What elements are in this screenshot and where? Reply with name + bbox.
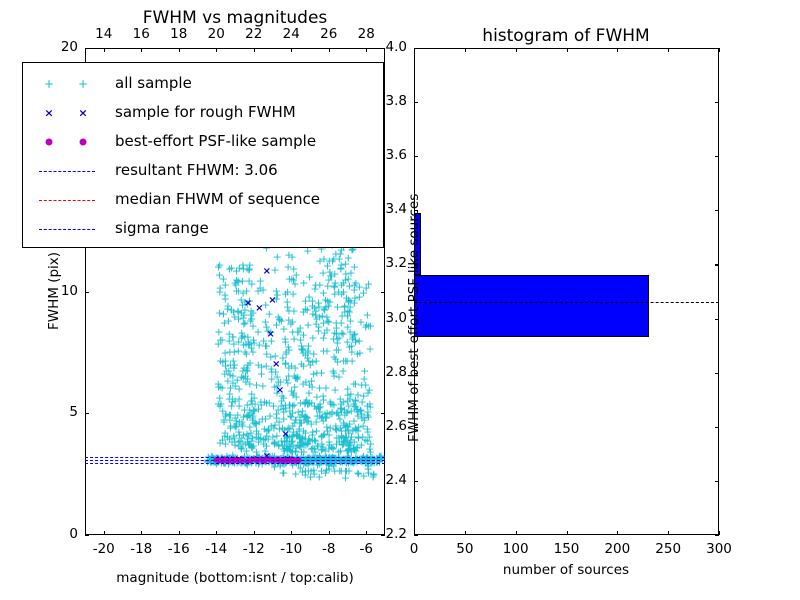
scatter-point-all: +: [319, 395, 328, 406]
reference-line: [85, 460, 385, 461]
scatter-point-all: +: [351, 401, 360, 412]
legend-item: ++all sample: [23, 71, 383, 97]
x-tick-label-bottom: -6: [360, 541, 373, 557]
legend-item: best-effort PSF-like sample: [23, 129, 383, 155]
scatter-point-all: +: [317, 368, 326, 379]
scatter-point-all: +: [258, 381, 267, 392]
axis-tick: [617, 48, 618, 52]
x-tick-label: 0: [410, 541, 419, 557]
axis-tick: [85, 535, 89, 536]
axis-tick: [668, 48, 669, 52]
axis-tick: [715, 373, 719, 374]
axis-tick: [216, 48, 217, 52]
x-tick-label-top: 20: [208, 26, 225, 42]
x-tick-label-top: 14: [95, 26, 112, 42]
axis-tick: [366, 531, 367, 535]
legend-line-marker: [39, 171, 95, 172]
scatter-point-all: +: [333, 302, 342, 313]
axis-tick: [414, 156, 418, 157]
scatter-point-rough-fwhm: ×: [255, 304, 263, 314]
left-panel-title: FWHM vs magnitudes: [143, 8, 328, 28]
scatter-point-all: +: [216, 356, 225, 367]
scatter-point-all: +: [343, 306, 352, 317]
axis-tick: [329, 531, 330, 535]
legend-item: ××sample for rough FWHM: [23, 100, 383, 126]
axis-tick: [414, 481, 418, 482]
axis-tick: [715, 156, 719, 157]
axis-tick: [179, 48, 180, 52]
scatter-point-all: +: [343, 337, 352, 348]
right-panel-title: histogram of FWHM: [482, 26, 649, 46]
scatter-point-rough-fwhm: ×: [244, 299, 252, 309]
scatter-point-all: +: [366, 447, 375, 458]
y-tick-label: 2.8: [386, 364, 407, 380]
legend-label: all sample: [115, 74, 192, 92]
legend-label: resultant FHWM: 3.06: [115, 161, 278, 179]
legend-label: sigma range: [115, 219, 209, 237]
reference-line: [85, 463, 385, 464]
scatter-point-all: +: [324, 316, 333, 327]
y-tick-label: 3.0: [386, 310, 407, 326]
axis-tick: [216, 531, 217, 535]
scatter-point-all: +: [363, 423, 372, 434]
axis-tick: [516, 531, 517, 535]
scatter-point-all: +: [219, 274, 228, 285]
scatter-point-all: +: [292, 372, 301, 383]
scatter-point-all: +: [341, 466, 350, 477]
axis-tick: [516, 48, 517, 52]
scatter-point-all: +: [229, 331, 238, 342]
y-tick-label: 3.8: [386, 93, 407, 109]
scatter-point-all: +: [301, 376, 310, 387]
axis-tick: [719, 48, 720, 52]
y-tick-label-left: 20: [61, 39, 78, 55]
x-tick-label-bottom: -14: [205, 541, 227, 557]
scatter-point-all: +: [355, 348, 364, 359]
scatter-point-all: +: [332, 334, 341, 345]
scatter-point-rough-fwhm: ×: [281, 430, 289, 440]
y-tick-label: 3.2: [386, 255, 407, 271]
x-tick-label: 100: [503, 541, 529, 557]
axis-tick: [104, 48, 105, 52]
scatter-point-all: +: [247, 388, 256, 399]
scatter-point-all: +: [238, 439, 247, 450]
y-tick-label-left: 10: [61, 283, 78, 299]
figure-canvas: FWHM vs magnitudes +++++++++++++++++++++…: [0, 0, 800, 600]
scatter-point-all: +: [324, 300, 333, 311]
legend-label: best-effort PSF-like sample: [115, 132, 316, 150]
axis-tick: [381, 292, 385, 293]
reference-line: [85, 457, 385, 458]
legend-item: resultant FHWM: 3.06: [23, 158, 383, 184]
axis-tick: [366, 48, 367, 52]
x-tick-label-top: 26: [320, 26, 337, 42]
x-tick-label-top: 28: [358, 26, 375, 42]
x-tick-label: 50: [456, 541, 473, 557]
axis-tick: [414, 102, 418, 103]
legend-x-marker: ×: [78, 108, 87, 119]
legend-x-marker: ×: [44, 108, 53, 119]
axis-tick: [715, 264, 719, 265]
scatter-point-all: +: [337, 259, 346, 270]
x-tick-label-bottom: -16: [168, 541, 190, 557]
axis-tick: [381, 413, 385, 414]
axis-tick: [179, 531, 180, 535]
legend-box: ++all sample××sample for rough FWHMbest-…: [22, 62, 384, 248]
axis-tick: [719, 531, 720, 535]
scatter-point-all: +: [334, 345, 343, 356]
scatter-point-all: +: [363, 401, 372, 412]
scatter-point-all: +: [344, 445, 353, 456]
scatter-point-all: +: [364, 412, 373, 423]
scatter-point-all: +: [231, 395, 240, 406]
axis-tick: [85, 48, 89, 49]
scatter-point-all: +: [218, 405, 227, 416]
histogram-reference-line: [414, 302, 719, 303]
scatter-point-all: +: [242, 285, 251, 296]
axis-tick: [715, 319, 719, 320]
axis-tick: [254, 531, 255, 535]
scatter-point-all: +: [330, 371, 339, 382]
scatter-point-all: +: [354, 469, 363, 480]
axis-tick: [617, 531, 618, 535]
scatter-point-rough-fwhm: ×: [272, 360, 280, 370]
x-tick-label-top: 24: [283, 26, 300, 42]
scatter-point-rough-fwhm: ×: [268, 296, 276, 306]
right-y-axis-label: FWHM of best-effort PSF-like sources: [406, 194, 422, 442]
axis-tick: [381, 48, 385, 49]
histogram-bar: [414, 275, 649, 337]
axis-tick: [414, 48, 418, 49]
scatter-point-all: +: [262, 430, 271, 441]
legend-dot-marker: [80, 139, 87, 146]
x-tick-label: 200: [604, 541, 630, 557]
scatter-point-all: +: [292, 269, 301, 280]
scatter-point-all: +: [360, 365, 369, 376]
axis-tick: [141, 48, 142, 52]
axis-tick: [465, 531, 466, 535]
scatter-point-all: +: [299, 306, 308, 317]
scatter-point-all: +: [291, 443, 300, 454]
scatter-point-all: +: [308, 296, 317, 307]
scatter-point-all: +: [214, 262, 223, 273]
axis-tick: [329, 48, 330, 52]
axis-tick: [141, 531, 142, 535]
scatter-point-all: +: [319, 345, 328, 356]
scatter-point-all: +: [279, 323, 288, 334]
scatter-point-all: +: [365, 384, 374, 395]
scatter-point-all: +: [337, 318, 346, 329]
scatter-point-all: +: [319, 332, 328, 343]
scatter-point-all: +: [317, 431, 326, 442]
y-tick-label-left: 5: [69, 404, 78, 420]
scatter-point-all: +: [229, 307, 238, 318]
scatter-point-all: +: [362, 319, 371, 330]
scatter-point-all: +: [226, 359, 235, 370]
x-tick-label-bottom: -8: [322, 541, 335, 557]
scatter-point-all: +: [317, 466, 326, 477]
histogram-data-layer: [414, 48, 719, 535]
y-tick-label: 3.6: [386, 147, 407, 163]
scatter-point-all: +: [230, 432, 239, 443]
x-tick-label-bottom: -20: [93, 541, 115, 557]
scatter-point-rough-fwhm: ×: [276, 386, 284, 396]
scatter-point-all: +: [270, 265, 279, 276]
scatter-point-all: +: [289, 305, 298, 316]
scatter-point-all: +: [281, 289, 290, 300]
legend-plus-marker: +: [44, 78, 54, 90]
scatter-point-all: +: [247, 314, 256, 325]
y-tick-label: 2.6: [386, 418, 407, 434]
scatter-point-all: +: [215, 437, 224, 448]
scatter-point-all: +: [282, 347, 291, 358]
axis-tick: [715, 427, 719, 428]
x-tick-label-bottom: -12: [243, 541, 265, 557]
axis-tick: [715, 102, 719, 103]
y-tick-label: 2.4: [386, 472, 407, 488]
scatter-point-all: +: [237, 372, 246, 383]
x-tick-label: 150: [554, 541, 580, 557]
x-tick-label: 250: [655, 541, 681, 557]
axis-tick: [381, 535, 385, 536]
scatter-point-all: +: [350, 285, 359, 296]
scatter-point-all: +: [301, 397, 310, 408]
scatter-point-all: +: [330, 465, 339, 476]
scatter-point-all: +: [257, 362, 266, 373]
left-y-axis-label: FWHM (pix): [46, 252, 62, 330]
legend-label: median FHWM of sequence: [115, 190, 320, 208]
scatter-point-all: +: [248, 413, 257, 424]
scatter-point-all: +: [280, 334, 289, 345]
axis-tick: [291, 531, 292, 535]
x-tick-label-bottom: -18: [130, 541, 152, 557]
scatter-point-all: +: [289, 387, 298, 398]
scatter-point-all: +: [284, 250, 293, 261]
axis-tick: [465, 48, 466, 52]
y-tick-label: 4.0: [386, 39, 407, 55]
x-tick-label: 300: [706, 541, 732, 557]
scatter-point-all: +: [279, 467, 288, 478]
axis-tick: [414, 535, 418, 536]
scatter-point-all: +: [327, 406, 336, 417]
scatter-point-rough-fwhm: ×: [263, 267, 271, 277]
scatter-point-all: +: [291, 469, 300, 480]
legend-line-marker: [39, 229, 95, 230]
scatter-point-all: +: [214, 382, 223, 393]
y-tick-label: 3.4: [386, 201, 407, 217]
axis-tick: [715, 535, 719, 536]
scatter-point-all: +: [334, 287, 343, 298]
scatter-point-all: +: [366, 343, 375, 354]
scatter-point-all: +: [245, 339, 254, 350]
scatter-point-all: +: [353, 442, 362, 453]
scatter-point-all: +: [304, 434, 313, 445]
scatter-point-all: +: [313, 411, 322, 422]
scatter-point-all: +: [345, 418, 354, 429]
legend-dot-marker: [46, 139, 53, 146]
axis-tick: [104, 531, 105, 535]
y-tick-label: 2.2: [386, 526, 407, 542]
x-tick-label-top: 18: [170, 26, 187, 42]
legend-item: sigma range: [23, 216, 383, 242]
scatter-point-all: +: [273, 251, 282, 262]
scatter-point-all: +: [336, 445, 345, 456]
axis-tick: [715, 48, 719, 49]
axis-tick: [291, 48, 292, 52]
scatter-point-all: +: [323, 280, 332, 291]
x-tick-label-top: 16: [133, 26, 150, 42]
scatter-point-all: +: [226, 383, 235, 394]
axis-tick: [668, 531, 669, 535]
x-tick-label-bottom: -10: [280, 541, 302, 557]
scatter-point-all: +: [231, 279, 240, 290]
legend-label: sample for rough FWHM: [115, 103, 296, 121]
scatter-point-all: +: [304, 465, 313, 476]
scatter-point-all: +: [245, 264, 254, 275]
y-tick-label-left: 0: [69, 526, 78, 542]
scatter-point-rough-fwhm: ×: [266, 330, 274, 340]
legend-item: median FHWM of sequence: [23, 187, 383, 213]
scatter-point-all: +: [312, 313, 321, 324]
axis-tick: [715, 481, 719, 482]
scatter-point-all: +: [301, 350, 310, 361]
axis-tick: [567, 531, 568, 535]
x-tick-label-top: 22: [245, 26, 262, 42]
right-x-axis-label: number of sources: [503, 562, 629, 578]
axis-tick: [254, 48, 255, 52]
axis-tick: [85, 413, 89, 414]
legend-plus-marker: +: [78, 78, 88, 90]
scatter-point-all: +: [217, 335, 226, 346]
scatter-point-all: +: [321, 382, 330, 393]
axis-tick: [85, 292, 89, 293]
axis-tick: [715, 210, 719, 211]
scatter-point-all: +: [265, 411, 274, 422]
scatter-point-all: +: [270, 436, 279, 447]
legend-line-marker: [39, 200, 95, 201]
axis-tick: [567, 48, 568, 52]
scatter-point-all: +: [249, 441, 258, 452]
left-x-axis-label: magnitude (bottom:isnt / top:calib): [116, 570, 353, 586]
